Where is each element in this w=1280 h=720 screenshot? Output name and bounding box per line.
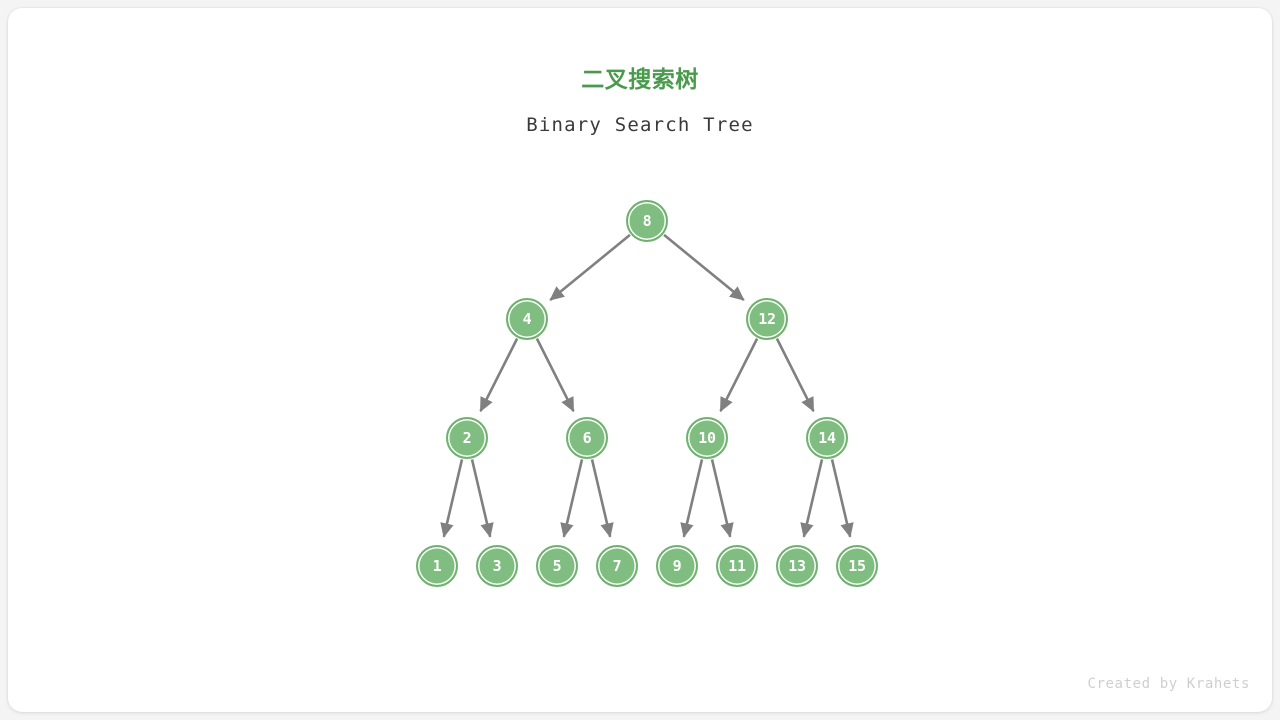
tree-node: 1 [416, 545, 458, 587]
tree-node: 13 [776, 545, 818, 587]
tree-node: 2 [446, 417, 488, 459]
tree-node: 3 [476, 545, 518, 587]
binary-search-tree-diagram: 841226101413579111315 [8, 8, 1272, 712]
tree-node: 14 [806, 417, 848, 459]
tree-node-value: 12 [758, 312, 775, 327]
tree-node-value: 5 [553, 559, 562, 574]
credit-text: Created by Krahets [1087, 676, 1250, 692]
tree-node: 6 [566, 417, 608, 459]
tree-node: 11 [716, 545, 758, 587]
tree-edge [664, 235, 744, 300]
tree-edge [444, 459, 462, 536]
tree-node-value: 11 [728, 559, 745, 574]
tree-edge [684, 459, 702, 536]
tree-node: 8 [626, 200, 668, 242]
tree-edge [592, 459, 610, 536]
tree-node: 12 [746, 298, 788, 340]
tree-node-value: 10 [698, 431, 715, 446]
tree-edge [564, 459, 582, 536]
tree-node-value: 13 [788, 559, 805, 574]
tree-edge [832, 459, 850, 536]
tree-node-value: 1 [433, 559, 442, 574]
tree-node-value: 15 [848, 559, 865, 574]
diagram-card: 二叉搜索树 Binary Search Tree 841226101413579… [8, 8, 1272, 712]
tree-node-value: 3 [493, 559, 502, 574]
tree-node: 9 [656, 545, 698, 587]
tree-node-value: 8 [643, 214, 652, 229]
tree-edge [537, 339, 574, 412]
tree-node: 4 [506, 298, 548, 340]
tree-edges-layer [8, 8, 1272, 712]
tree-edge [777, 339, 814, 412]
tree-edge [472, 459, 490, 536]
tree-node: 5 [536, 545, 578, 587]
tree-node-value: 14 [818, 431, 835, 446]
tree-node-value: 4 [523, 312, 532, 327]
tree-node-value: 9 [673, 559, 682, 574]
tree-node-value: 7 [613, 559, 622, 574]
tree-node: 15 [836, 545, 878, 587]
tree-edge [550, 235, 630, 300]
tree-edge [712, 459, 730, 536]
tree-node-value: 2 [463, 431, 472, 446]
tree-edge [721, 339, 758, 412]
tree-node-value: 6 [583, 431, 592, 446]
tree-edge [481, 339, 518, 412]
tree-edge [804, 459, 822, 536]
tree-node: 7 [596, 545, 638, 587]
tree-edge-group [444, 235, 850, 537]
tree-node: 10 [686, 417, 728, 459]
